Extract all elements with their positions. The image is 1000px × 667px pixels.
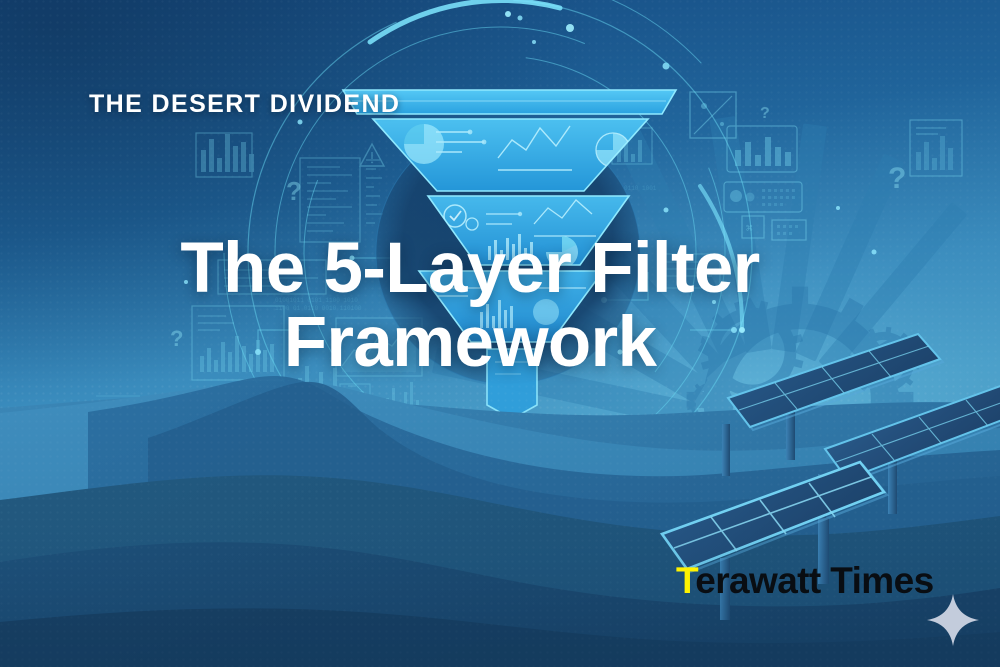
page-title: The 5-Layer Filter Framework <box>70 234 870 379</box>
kicker-text: THE DESERT DIVIDEND <box>89 90 400 119</box>
brand-initial: T <box>676 560 695 601</box>
title-line-1: The 5-Layer Filter <box>70 234 870 304</box>
brand-name-rest: erawatt Times <box>695 560 933 601</box>
sparkle-icon <box>925 592 981 648</box>
title-line-2: Framework <box>70 308 870 378</box>
header-graphic-canvas: 01001011 0101 1100 1010 1100 01 0110 001… <box>0 0 1000 667</box>
brand-logo[interactable]: Terawatt Times <box>676 560 934 602</box>
